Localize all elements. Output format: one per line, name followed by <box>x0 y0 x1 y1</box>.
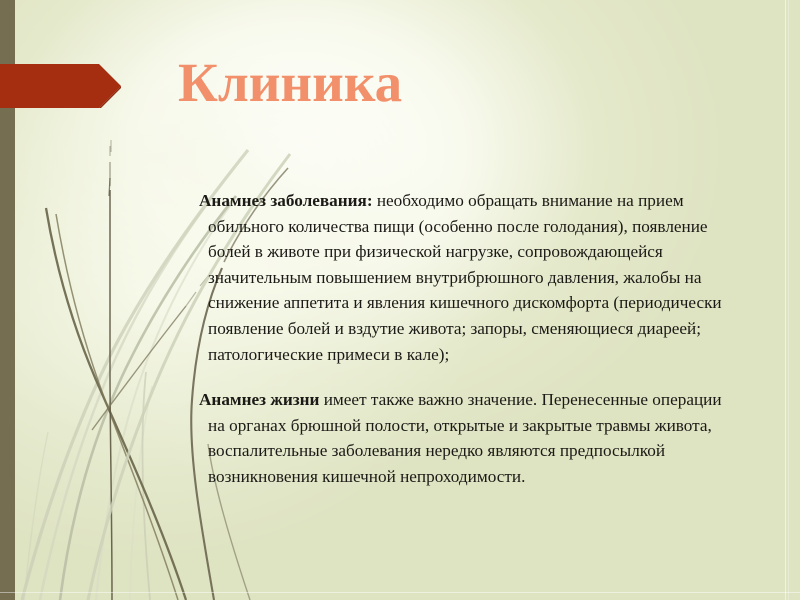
bottom-edge-hairline <box>0 592 800 593</box>
page-title: Клиника <box>178 55 402 110</box>
paragraph-anamnesis-life: Анамнез жизни имеет также важно значение… <box>199 387 736 489</box>
presentation-slide: Клиника Анамнез заболевания: необходимо … <box>0 0 800 600</box>
arrow-banner-icon <box>0 64 121 108</box>
paragraph-lead-label: Анамнез заболевания: <box>199 191 373 210</box>
right-edge-hairline <box>785 0 786 600</box>
slide-body: Анамнез заболевания: необходимо обращать… <box>199 188 736 490</box>
paragraph-anamnesis-disease: Анамнез заболевания: необходимо обращать… <box>199 188 736 367</box>
paragraph-lead-label: Анамнез жизни <box>199 390 319 409</box>
right-edge-hairline-secondary <box>788 0 789 600</box>
paragraph-text: необходимо обращать внимание на прием об… <box>208 191 722 364</box>
